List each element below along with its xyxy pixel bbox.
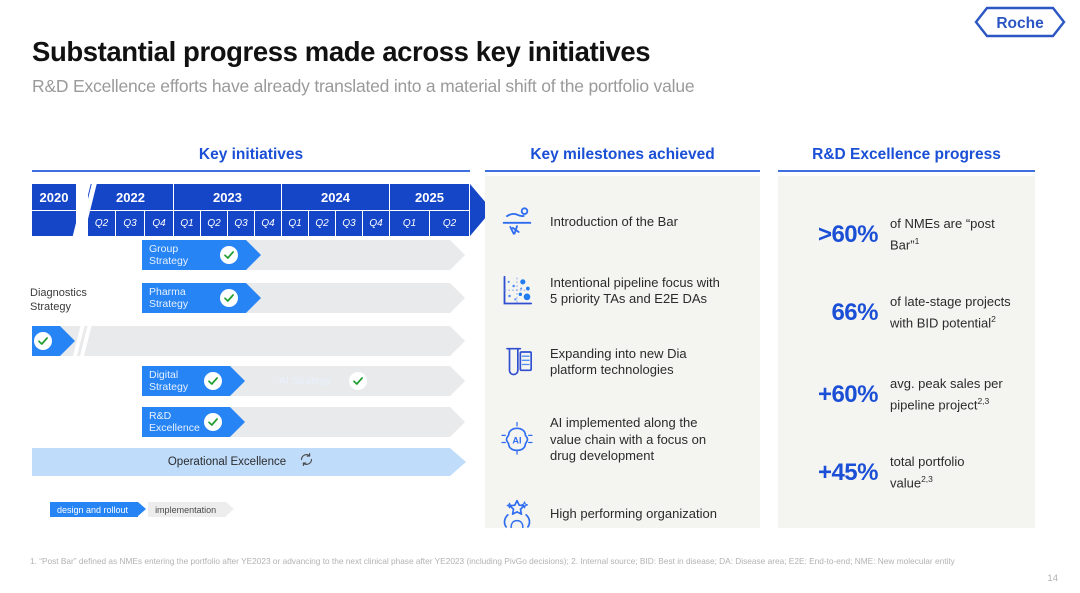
rd-progress-panel: >60%of NMEs are “postBar”166%of late-sta… (778, 176, 1035, 528)
timeline-quarter-10: Q3 (336, 211, 363, 236)
key-milestones-panel: Introduction of the BarIntentional pipel… (485, 176, 760, 528)
ai-brain-icon: AI (497, 420, 537, 460)
check-icon-digital-strategy (204, 372, 222, 390)
check-icon-group-strategy (220, 246, 238, 264)
progress-row-3: +45%total portfoliovalue2,3 (778, 454, 1035, 491)
timeline-quarter-6: Q3 (228, 211, 255, 236)
timeline-year-2022: 2022 (88, 184, 174, 210)
progress-row-0: >60%of NMEs are “postBar”1 (778, 216, 1035, 253)
timeline-year-2025: 2025 (390, 184, 470, 210)
bar-track-rd-excellence: R&D Excellence (142, 407, 450, 437)
footnote: 1. “Post Bar” defined as NMEs entering t… (30, 556, 1030, 568)
timeline-quarter-0 (32, 211, 77, 236)
scatter-pipeline-icon (497, 271, 537, 311)
timeline-quarter-4: Q1 (174, 211, 201, 236)
timeline-quarter-1: Q2 (88, 211, 116, 236)
milestone-text-0: Introduction of the Bar (550, 214, 678, 231)
timeline-quarter-13: Q2 (430, 211, 470, 236)
milestone-row-3: AIAI implemented along the value chain w… (497, 415, 750, 465)
milestone-text-4: High performing organization (550, 506, 717, 523)
check-icon-rd-excellence (204, 413, 222, 431)
milestone-row-1: Intentional pipeline focus with 5 priori… (497, 271, 750, 311)
bar-label-group-strategy: Group Strategy (149, 243, 188, 267)
legend-label-implementation: implementation (155, 505, 216, 515)
timeline-quarter-7: Q4 (255, 211, 282, 236)
page-subtitle: R&D Excellence efforts have already tran… (32, 76, 694, 97)
progress-description-1: of late-stage projectswith BID potential… (890, 294, 1011, 331)
column-heading-rd-progress: R&D Excellence progress (778, 146, 1035, 164)
diagnostics-strategy-label: Diagnostics Strategy (30, 287, 87, 314)
high-jump-bar-icon (497, 202, 537, 242)
timeline-quarter-12: Q1 (390, 211, 430, 236)
bar-label-digital-strategy: Digital Strategy (149, 369, 188, 393)
operational-excellence-label: Operational Excellence (168, 456, 286, 468)
progress-value-1: 66% (778, 299, 890, 327)
progress-description-3: total portfoliovalue2,3 (890, 454, 964, 491)
legend-item-design-and-rollout: design and rollout (50, 502, 138, 517)
bar-track-diagnostics-strategy (32, 326, 450, 356)
check-icon-ai-strategy (349, 372, 367, 390)
progress-row-2: +60%avg. peak sales perpipeline project2… (778, 376, 1035, 413)
timeline-quarter-5: Q2 (201, 211, 228, 236)
timeline-year-2023: 2023 (174, 184, 282, 210)
legend-item-implementation: implementation (148, 502, 226, 517)
progress-value-0: >60% (778, 221, 890, 249)
check-icon-diagnostics-strategy (34, 332, 52, 350)
progress-description-2: avg. peak sales perpipeline project2,3 (890, 376, 1003, 413)
roche-logo: Roche (974, 6, 1066, 38)
timeline-legend: design and rollout implementation (50, 502, 226, 517)
timeline-year-row: 20202022202320242025 (32, 184, 470, 210)
column-rule-middle (485, 170, 760, 172)
progress-value-2: +60% (778, 381, 890, 409)
milestone-row-2: Expanding into new Dia platform technolo… (497, 342, 750, 382)
timeline-quarter-row: Q2Q3Q4Q1Q2Q3Q4Q1Q2Q3Q4Q1Q2 (32, 211, 470, 236)
timeline-quarter-2: Q3 (116, 211, 145, 236)
milestone-row-0: Introduction of the Bar (497, 202, 750, 242)
column-rule-right (778, 170, 1035, 172)
bar-track-pharma-strategy: Pharma Strategy (142, 283, 450, 313)
timeline-quarter-11: Q4 (363, 211, 390, 236)
timeline-quarter-9: Q2 (309, 211, 336, 236)
timeline-axis: 20202022202320242025 Q2Q3Q4Q1Q2Q3Q4Q1Q2Q… (32, 184, 470, 236)
bar-label-rd-excellence: R&D Excellence (149, 410, 200, 434)
milestone-text-1: Intentional pipeline focus with 5 priori… (550, 275, 720, 308)
timeline-quarter-8: Q1 (282, 211, 309, 236)
progress-row-1: 66%of late-stage projectswith BID potent… (778, 294, 1035, 331)
operational-excellence-bar[interactable]: Operational Excellence (32, 448, 450, 476)
timeline-quarter-3: Q4 (145, 211, 174, 236)
column-heading-key-initiatives: Key initiatives (32, 146, 470, 164)
progress-value-3: +45% (778, 459, 890, 487)
svg-text:AI: AI (512, 435, 521, 445)
bar-label-ai-strategy: AI Strategy (279, 375, 331, 387)
column-heading-key-milestones: Key milestones achieved (485, 146, 760, 164)
legend-label-design: design and rollout (57, 505, 128, 515)
timeline-year-2024: 2024 (282, 184, 390, 210)
test-tube-chip-icon (497, 342, 537, 382)
cycle-icon (299, 452, 314, 472)
page-number: 14 (1047, 573, 1058, 584)
timeline-year-2020: 2020 (32, 184, 77, 210)
milestone-row-4: High performing organization (497, 494, 750, 534)
progress-description-0: of NMEs are “postBar”1 (890, 216, 995, 253)
hands-star-icon (497, 494, 537, 534)
column-rule-left (32, 170, 470, 172)
bar-track-group-strategy: Group Strategy (142, 240, 450, 270)
check-icon-pharma-strategy (220, 289, 238, 307)
milestone-text-2: Expanding into new Dia platform technolo… (550, 346, 687, 379)
page-title: Substantial progress made across key ini… (32, 36, 650, 68)
roche-logo-text: Roche (996, 15, 1044, 32)
milestone-text-3: AI implemented along the value chain wit… (550, 415, 706, 465)
bar-label-pharma-strategy: Pharma Strategy (149, 286, 188, 310)
